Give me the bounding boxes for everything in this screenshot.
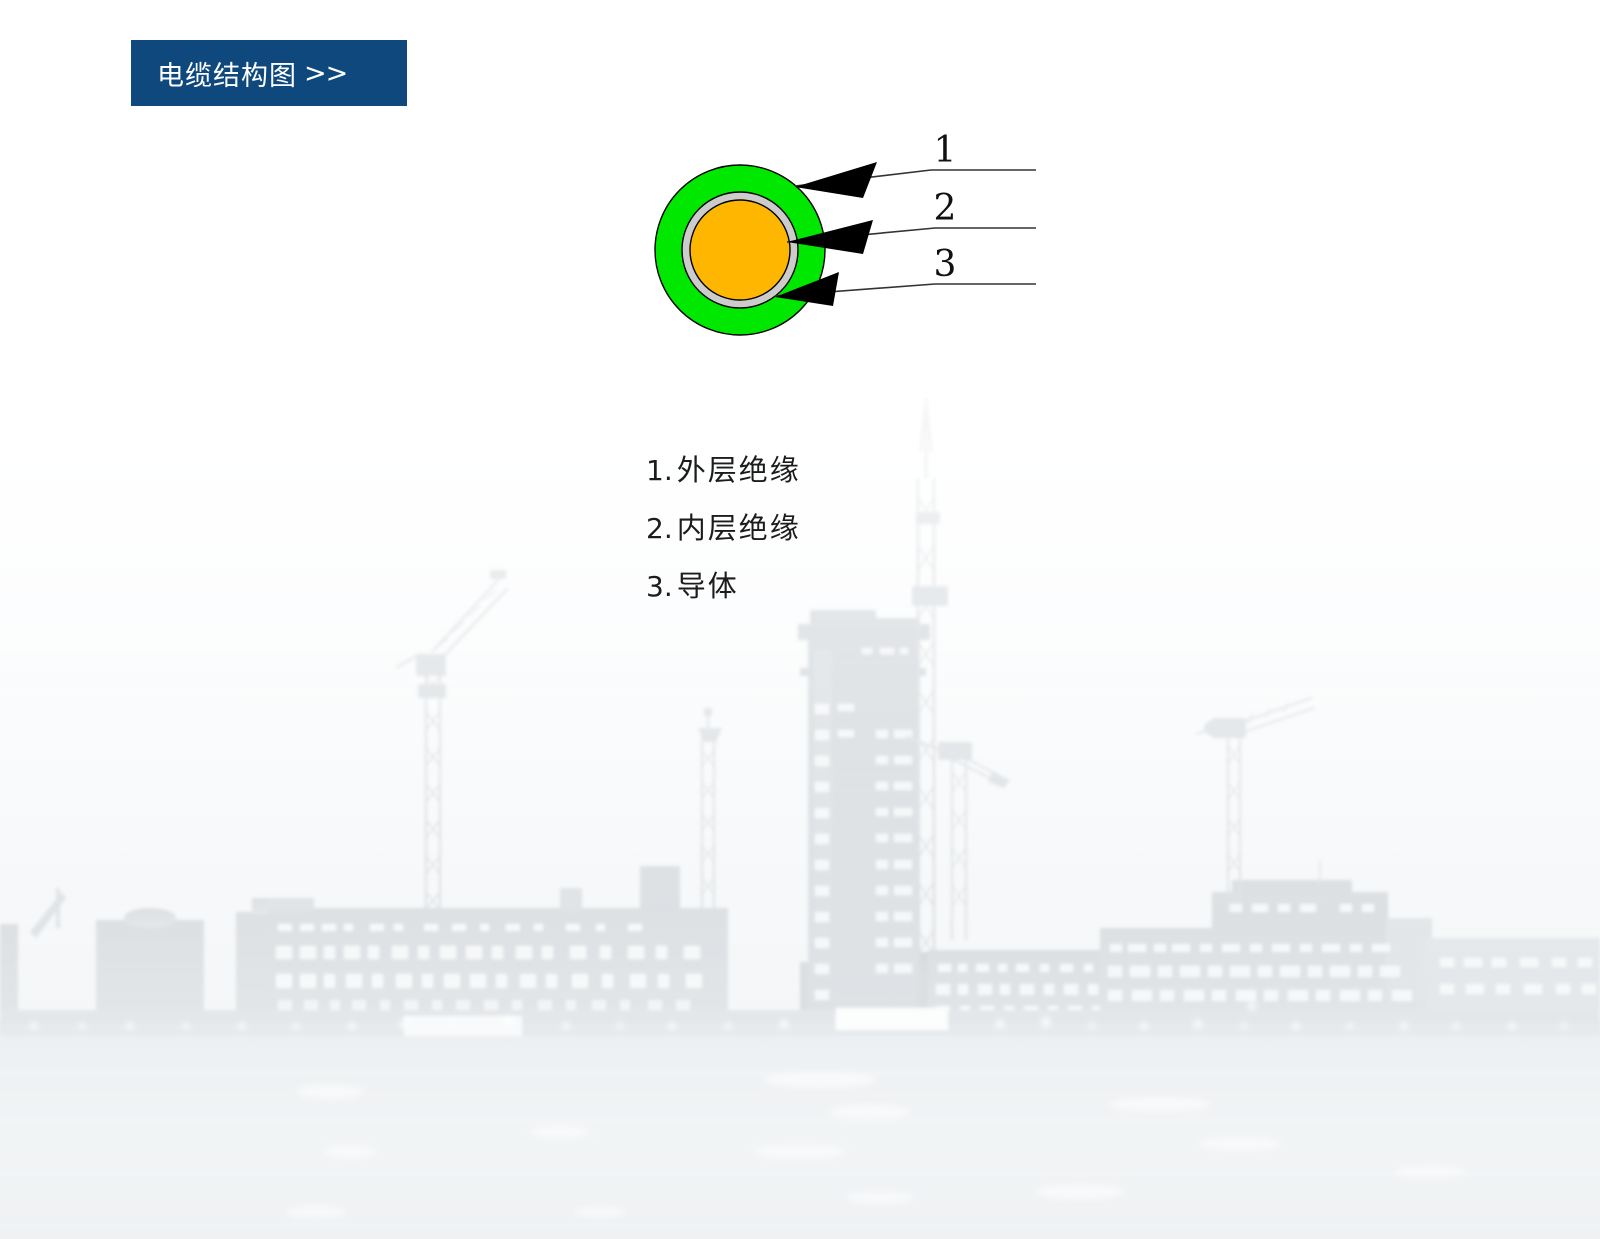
legend-item-1-number: 1. — [646, 454, 673, 487]
legend-item-1-label: 外层绝缘 — [677, 447, 801, 489]
legend-item-2: 2. 内层绝缘 — [646, 505, 1066, 563]
conductor-core — [690, 200, 790, 300]
legend-item-3-label: 导体 — [677, 563, 739, 605]
legend-item-3: 3. 导体 — [646, 563, 1066, 621]
cable-cross-section-svg: 1 2 3 — [627, 116, 1036, 398]
legend-list: 1. 外层绝缘 2. 内层绝缘 3. 导体 — [646, 447, 1066, 621]
legend-item-1: 1. 外层绝缘 — [646, 447, 1066, 505]
section-title-text: 电缆结构图 — [157, 54, 297, 93]
chevron-right-double-icon: >> — [304, 58, 347, 89]
slide-page: 电缆结构图 >> — [0, 0, 1600, 1239]
callout-arrow-1 — [795, 162, 877, 198]
legend-item-3-number: 3. — [646, 570, 673, 603]
callout-number-1: 1 — [934, 130, 957, 171]
legend-item-2-label: 内层绝缘 — [677, 505, 801, 547]
callout-number-2: 2 — [934, 188, 957, 229]
callout-number-3: 3 — [934, 244, 957, 285]
callout-leader-1 — [795, 162, 1036, 198]
cable-structure-diagram-panel: 1 2 3 — [627, 116, 1036, 398]
section-title-badge[interactable]: 电缆结构图 >> — [131, 40, 407, 106]
legend-item-2-number: 2. — [646, 512, 673, 545]
